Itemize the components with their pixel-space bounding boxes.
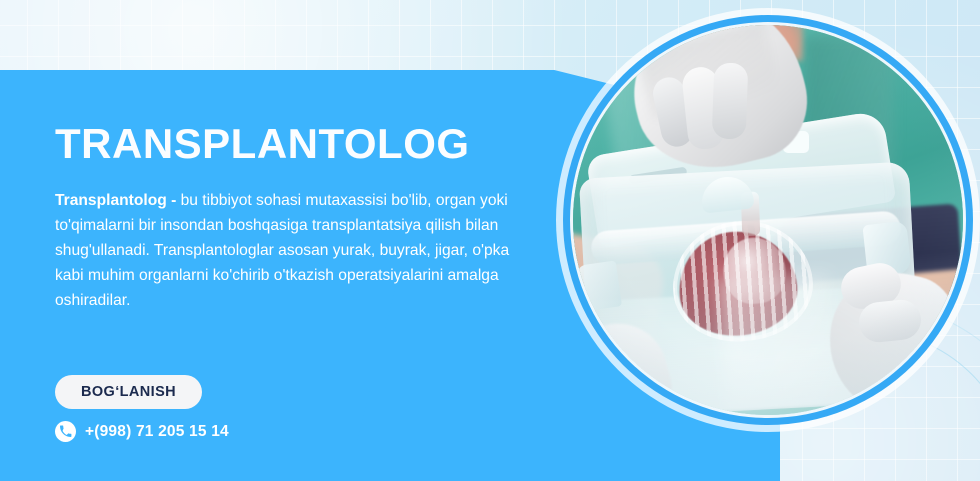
transplantolog-hero-banner: TRANSPLANTOLOG Transplantolog - bu tibbi… bbox=[0, 0, 980, 481]
contact-button[interactable]: BOG‘LANISH bbox=[55, 375, 202, 409]
hero-description-lead: Transplantolog - bbox=[55, 192, 181, 209]
phone-icon bbox=[55, 421, 76, 442]
surgeon-organ-container-photo bbox=[573, 25, 963, 415]
hero-description: Transplantolog - bu tibbiyot sohasi muta… bbox=[55, 188, 517, 313]
hero-description-rest: bu tibbiyot sohasi mutaxassisi bo'lib, o… bbox=[55, 192, 509, 309]
phone-contact-row[interactable]: +(998) 71 205 15 14 bbox=[55, 421, 229, 442]
photo-vignette bbox=[573, 25, 963, 415]
page-title: TRANSPLANTOLOG bbox=[55, 122, 525, 166]
hero-text-content: TRANSPLANTOLOG Transplantolog - bu tibbi… bbox=[55, 122, 525, 313]
phone-number[interactable]: +(998) 71 205 15 14 bbox=[85, 423, 229, 441]
